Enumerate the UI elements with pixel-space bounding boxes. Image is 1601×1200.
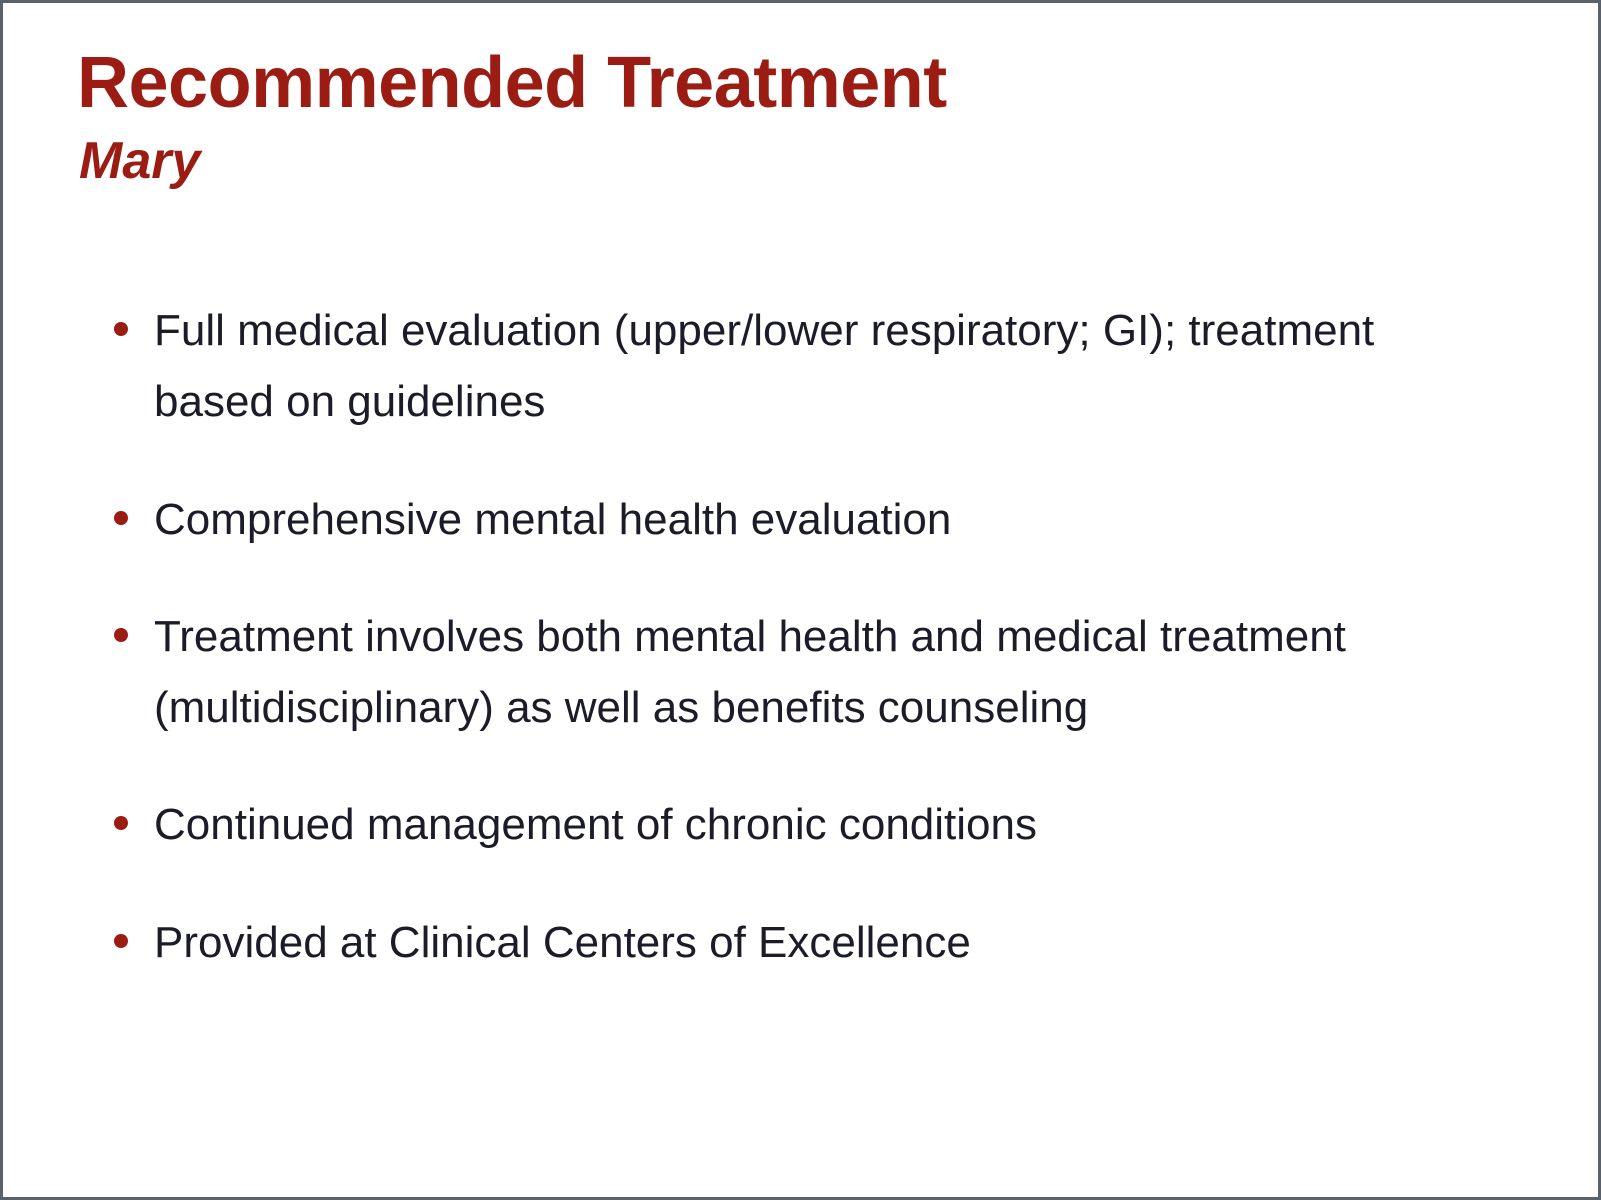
bullet-dot-icon [114, 816, 128, 830]
list-item: Full medical evaluation (upper/lower res… [108, 295, 1528, 438]
list-item: Provided at Clinical Centers of Excellen… [108, 907, 1528, 978]
slide-subtitle: Mary [79, 135, 1527, 187]
presentation-slide: Recommended Treatment Mary Full medical … [0, 0, 1601, 1200]
bullet-dot-icon [114, 322, 128, 336]
list-item-label: Treatment involves both mental health an… [154, 601, 1404, 744]
list-item-label: Full medical evaluation (upper/lower res… [154, 295, 1454, 438]
list-item-label: Provided at Clinical Centers of Excellen… [154, 907, 1444, 978]
list-item-label: Comprehensive mental health evaluation [154, 484, 1444, 555]
page-title: Recommended Treatment [77, 47, 1527, 119]
bullet-dot-icon [114, 628, 128, 642]
bullet-dot-icon [114, 511, 128, 525]
list-item: Continued management of chronic conditio… [108, 789, 1528, 860]
bullet-list: Full medical evaluation (upper/lower res… [108, 295, 1528, 978]
list-item: Treatment involves both mental health an… [108, 601, 1528, 744]
list-item-label: Continued management of chronic conditio… [154, 789, 1444, 860]
list-item: Comprehensive mental health evaluation [108, 484, 1528, 555]
slide-header: Recommended Treatment Mary [77, 47, 1527, 187]
bullet-dot-icon [114, 934, 128, 948]
